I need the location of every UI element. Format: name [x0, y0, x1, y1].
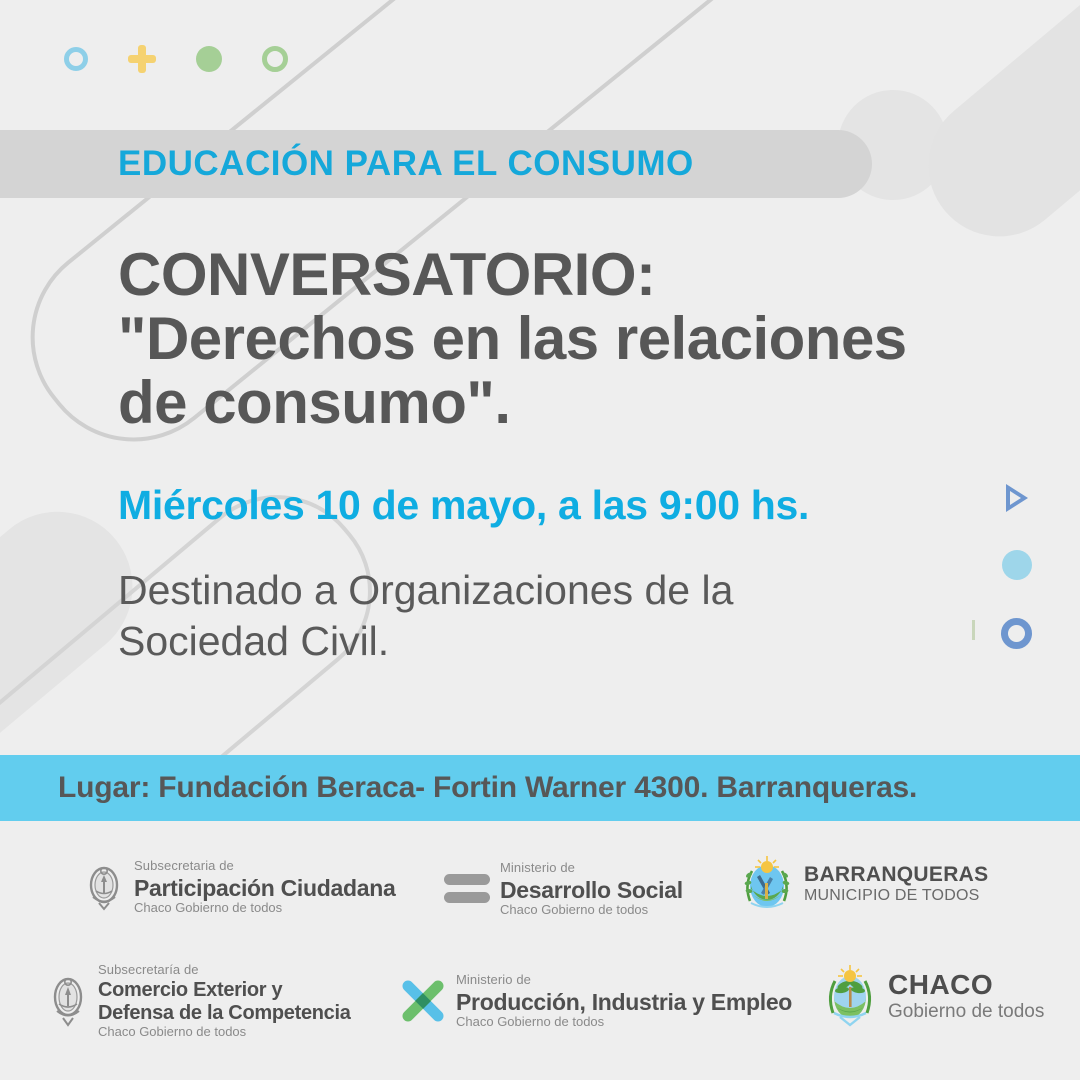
footer-logos: Subsecretaria de Participación Ciudadana… [0, 821, 1080, 1080]
chaco-crest-icon [822, 963, 878, 1029]
x-cross-icon [400, 978, 446, 1024]
event-datetime: Miércoles 10 de mayo, a las 9:00 hs. [118, 482, 958, 529]
logo-prefix: Ministerio de [456, 972, 531, 987]
logo-prefix: Subsecretaria de [134, 858, 234, 873]
circle-filled-icon [1002, 550, 1032, 580]
bar-bottom [444, 892, 490, 903]
logo-text-block: BARRANQUERAS MUNICIPIO DE TODOS [804, 863, 988, 905]
logo-main-label: Producción, Industria y Empleo [456, 989, 792, 1015]
poster-canvas: EDUCACIÓN PARA EL CONSUMO CONVERSATORIO:… [0, 0, 1080, 1080]
page-title: CONVERSATORIO: "Derechos en las relacion… [118, 243, 958, 436]
circle-outline-icon [1001, 618, 1032, 649]
logo-text-block: Subsecretaria de Participación Ciudadana… [134, 857, 396, 916]
logo-text-block: Subsecretaría de Comercio Exterior y Def… [98, 961, 351, 1040]
decor-tick-mark [972, 620, 975, 640]
logo-main-label: Desarrollo Social [500, 877, 683, 903]
headline-line-3: de consumo". [118, 371, 958, 435]
circle-outline-icon [64, 47, 88, 71]
event-location: Lugar: Fundación Beraca- Fortin Warner 4… [58, 771, 917, 805]
logo-comercio-exterior: Subsecretaría de Comercio Exterior y Def… [48, 961, 351, 1040]
logo-text-block: CHACO Gobierno de todos [888, 969, 1044, 1023]
logo-text-block: Ministerio de Producción, Industria y Em… [456, 971, 792, 1030]
logo-text-block: Ministerio de Desarrollo Social Chaco Go… [500, 859, 683, 918]
kicker-label: EDUCACIÓN PARA EL CONSUMO [118, 144, 694, 184]
circle-filled-icon [196, 46, 222, 72]
top-decoration-row [64, 42, 288, 76]
logo-barranqueras: BARRANQUERAS MUNICIPIO DE TODOS [740, 853, 988, 915]
event-audience: Destinado a Organizaciones de la Socieda… [118, 565, 958, 668]
logo-sub-label: Chaco Gobierno de todos [98, 1025, 351, 1040]
logo-main-label: BARRANQUERAS [804, 863, 988, 887]
audience-line-1: Destinado a Organizaciones de la [118, 565, 958, 616]
kicker-band: EDUCACIÓN PARA EL CONSUMO [0, 130, 872, 198]
side-decoration-column [1001, 484, 1032, 649]
logo-sub-label: Chaco Gobierno de todos [500, 903, 683, 918]
plus-icon [128, 45, 156, 73]
play-triangle-icon [1006, 484, 1028, 512]
circle-outline-icon [262, 46, 288, 72]
argentina-shield-icon [48, 971, 88, 1029]
logo-sub-label: Gobierno de todos [888, 1001, 1044, 1023]
place-band: Lugar: Fundación Beraca- Fortin Warner 4… [0, 755, 1080, 821]
logo-produccion-industria-empleo: Ministerio de Producción, Industria y Em… [400, 971, 792, 1030]
argentina-shield-icon [84, 861, 124, 913]
logo-prefix: Subsecretaría de [98, 962, 199, 977]
logo-sub-label: Chaco Gobierno de todos [456, 1015, 792, 1030]
logo-chaco: CHACO Gobierno de todos [822, 963, 1044, 1029]
headline-line-1: CONVERSATORIO: [118, 243, 958, 307]
logo-sub-label: Chaco Gobierno de todos [134, 901, 396, 916]
headline-line-2: "Derechos en las relaciones [118, 307, 958, 371]
logo-desarrollo-social: Ministerio de Desarrollo Social Chaco Go… [444, 859, 683, 918]
logo-main-label-line-2: Defensa de la Competencia [98, 1002, 351, 1025]
two-bars-icon [444, 874, 490, 903]
audience-line-2: Sociedad Civil. [118, 616, 958, 667]
logo-sub-label: MUNICIPIO DE TODOS [804, 887, 988, 905]
logo-main-label: Participación Ciudadana [134, 875, 396, 901]
main-content: CONVERSATORIO: "Derechos en las relacion… [118, 243, 958, 667]
logo-main-label-line-1: Comercio Exterior y [98, 979, 351, 1002]
barranqueras-crest-icon [740, 853, 794, 915]
logo-participacion-ciudadana: Subsecretaria de Participación Ciudadana… [84, 857, 396, 916]
bar-top [444, 874, 490, 885]
logo-main-label: CHACO [888, 969, 1044, 1001]
decor-capsule-filled-top-right [899, 0, 1080, 265]
logo-prefix: Ministerio de [500, 860, 575, 875]
